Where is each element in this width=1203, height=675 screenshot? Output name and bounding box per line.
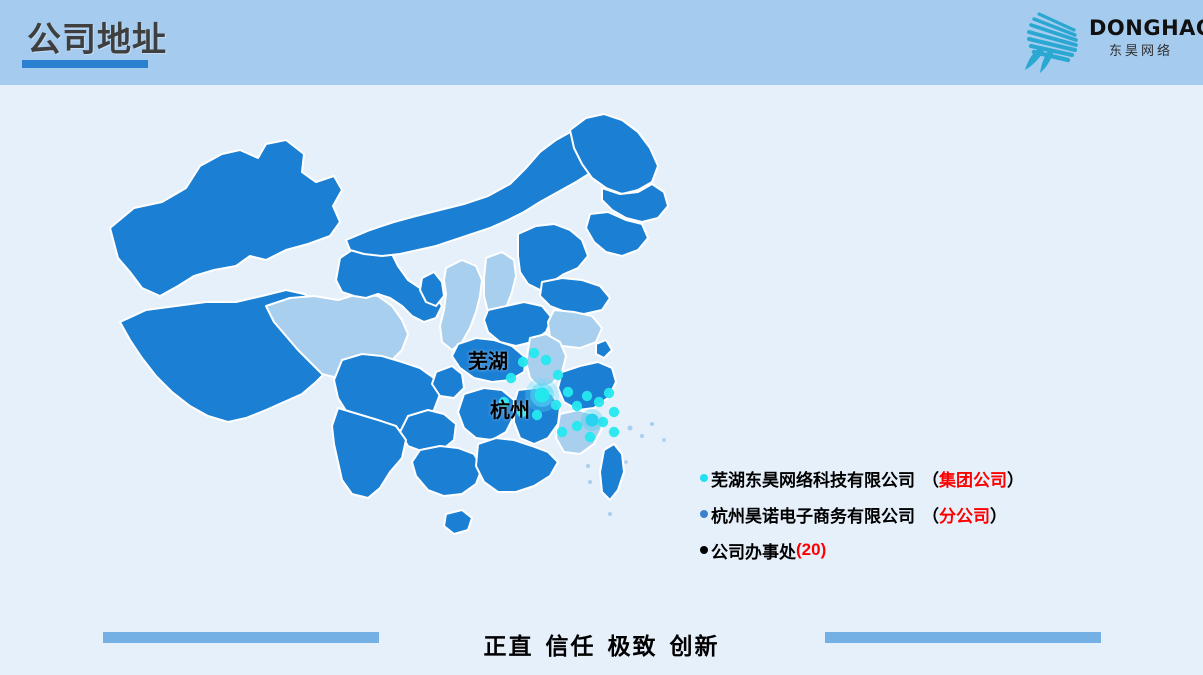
province-hainan xyxy=(444,510,472,534)
fan-feather-icon xyxy=(1019,8,1087,74)
legend-item-offices: 公司办事处 (20) xyxy=(700,532,1120,568)
title-underline xyxy=(22,60,148,68)
province-heilongjiang xyxy=(570,114,658,194)
province-fujian xyxy=(556,410,602,454)
city-label-hangzhou: 杭州 xyxy=(490,394,530,423)
legend-item-branch-company: 杭州昊诺电子商务有限公司 （ 分公司 ） xyxy=(700,496,1120,532)
legend-item-group-company: 芜湖东昊网络科技有限公司 （ 集团公司 ） xyxy=(700,460,1120,496)
logo-name: DONGHAO xyxy=(1089,16,1193,40)
legend-paren-open-0: （ xyxy=(922,466,939,491)
legend-label-offices: 公司办事处 xyxy=(711,538,796,563)
company-logo: DONGHAO 东昊网络 xyxy=(1015,6,1195,78)
legend-tag-group-company: 集团公司 xyxy=(939,466,1007,491)
legend-dot-black xyxy=(700,546,708,554)
legend: 芜湖东昊网络科技有限公司 （ 集团公司 ） 杭州昊诺电子商务有限公司 （ 分公司… xyxy=(700,460,1120,568)
legend-dot-cyan xyxy=(700,474,708,482)
slogan-word-1: 信任 xyxy=(546,633,596,659)
legend-label-branch-company: 杭州昊诺电子商务有限公司 xyxy=(711,502,915,527)
city-label-wuhu: 芜湖 xyxy=(468,345,508,374)
legend-paren-open-1: （ xyxy=(922,502,939,527)
province-shaanxi xyxy=(440,260,482,350)
footer-slogan: 正直信任极致创新 xyxy=(0,627,1203,661)
slogan-word-0: 正直 xyxy=(484,633,534,659)
page-title: 公司地址 xyxy=(27,20,167,60)
province-xinjiang xyxy=(110,140,342,296)
province-guangdong xyxy=(476,438,558,492)
province-shandong xyxy=(540,278,610,314)
province-guizhou xyxy=(400,410,456,452)
slogan-word-3: 创新 xyxy=(670,633,720,659)
slogan-word-2: 极致 xyxy=(608,633,658,659)
logo-text: DONGHAO 东昊网络 xyxy=(1089,16,1193,61)
legend-label-group-company: 芜湖东昊网络科技有限公司 xyxy=(711,466,915,491)
legend-paren-close-0: ） xyxy=(1007,466,1024,491)
province-guangxi xyxy=(412,446,482,496)
province-taiwan xyxy=(600,444,624,500)
logo-sub-name: 东昊网络 xyxy=(1089,41,1193,61)
province-shanghai xyxy=(596,340,612,358)
legend-tag-branch-company: 分公司 xyxy=(939,502,990,527)
legend-dot-blue xyxy=(700,510,708,518)
legend-tag-offices-count: (20) xyxy=(796,540,826,560)
china-map xyxy=(90,110,710,610)
slide-header: 公司地址 DONGHAO 东昊网络 xyxy=(0,0,1203,85)
legend-paren-close-1: ） xyxy=(990,502,1007,527)
china-map-container: 芜湖 杭州 xyxy=(90,110,710,610)
province-zhejiang xyxy=(558,362,616,410)
